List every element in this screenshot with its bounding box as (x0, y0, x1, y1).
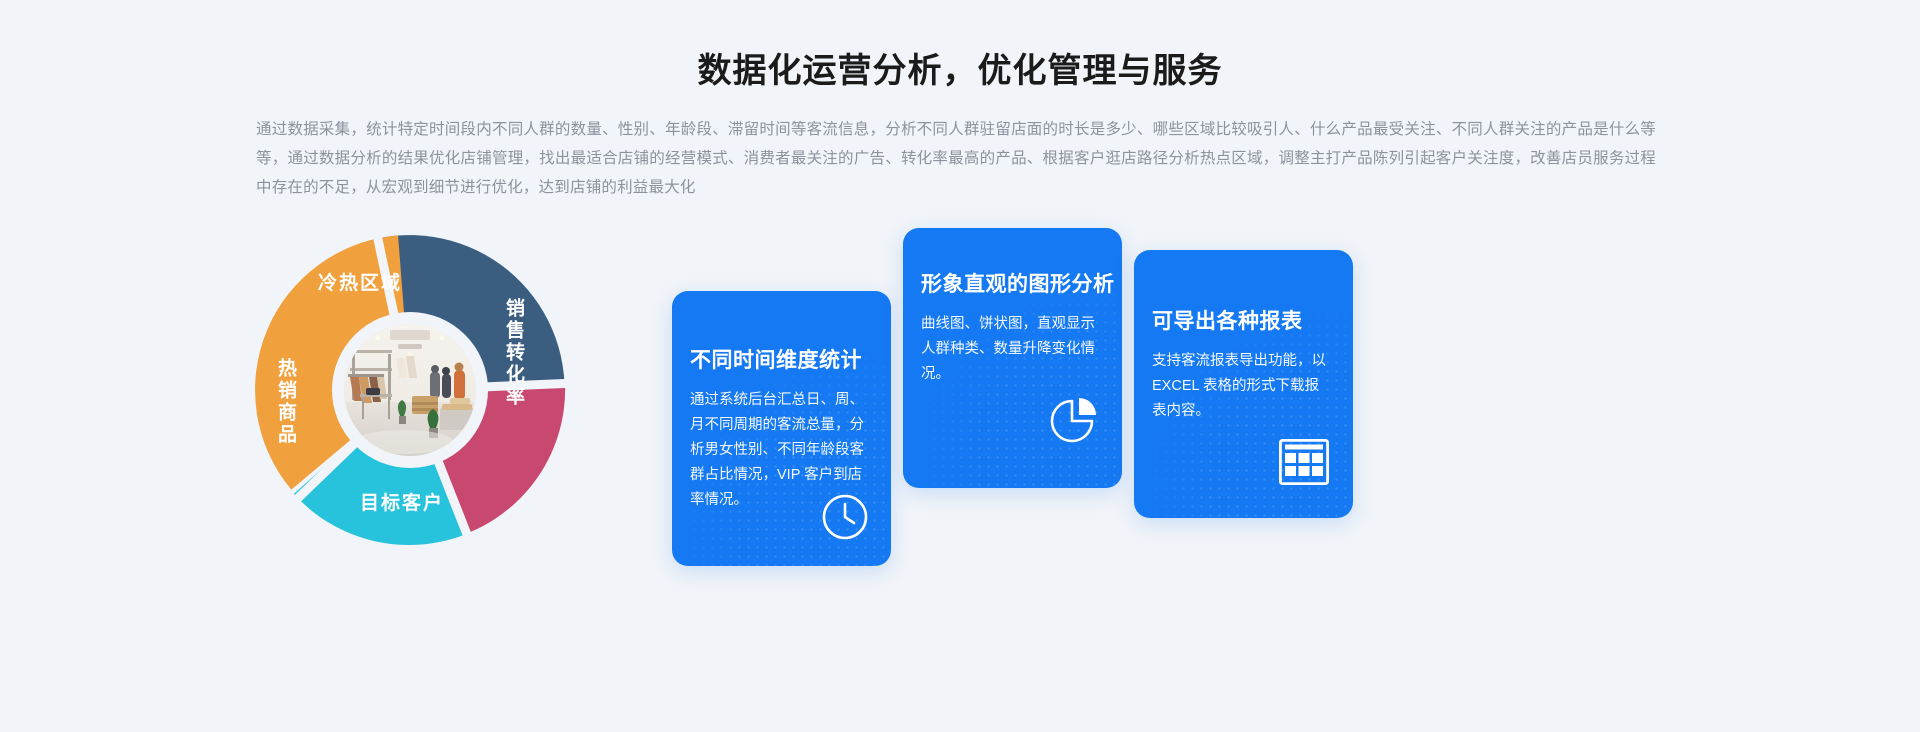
clock-icon (819, 491, 871, 548)
page-title: 数据化运营分析，优化管理与服务 (0, 46, 1920, 96)
donut-diagram: 冷热区域 销售转化率 目标客户 热销商品 (250, 230, 570, 550)
page-root: 数据化运营分析，优化管理与服务 通过数据采集，统计特定时间段内不同人群的数量、性… (0, 0, 1920, 732)
donut-label-hot-products: 热销商品 (272, 358, 299, 446)
card-title: 不同时间维度统计 (690, 344, 862, 374)
card-title: 可导出各种报表 (1152, 305, 1303, 335)
feature-card-graphic-analysis[interactable]: 形象直观的图形分析 曲线图、饼状图，直观显示人群种类、数量升降变化情况。 (903, 228, 1122, 488)
donut-label-target-customer: 目标客户 (360, 488, 444, 515)
page-description: 通过数据采集，统计特定时间段内不同人群的数量、性别、年龄段、滞留时间等客流信息，… (256, 115, 1656, 202)
table-grid-icon (1279, 439, 1329, 490)
card-title: 形象直观的图形分析 (921, 268, 1115, 298)
card-description: 支持客流报表导出功能，以 EXCEL 表格的形式下载报表内容。 (1152, 349, 1330, 424)
donut-label-cold-hot-zone: 冷热区域 (318, 268, 402, 295)
store-photo (338, 318, 482, 462)
feature-card-export-reports[interactable]: 可导出各种报表 支持客流报表导出功能，以 EXCEL 表格的形式下载报表内容。 (1134, 250, 1353, 518)
feature-card-time-statistics[interactable]: 不同时间维度统计 通过系统后台汇总日、周、月不同周期的客流总量，分析男女性别、不… (672, 291, 891, 566)
donut-label-sales-conversion: 销售转化率 (500, 298, 527, 408)
store-photo-illustration (344, 324, 476, 456)
pie-chart-icon (1048, 395, 1100, 452)
card-description: 曲线图、饼状图，直观显示人群种类、数量升降变化情况。 (921, 312, 1105, 387)
